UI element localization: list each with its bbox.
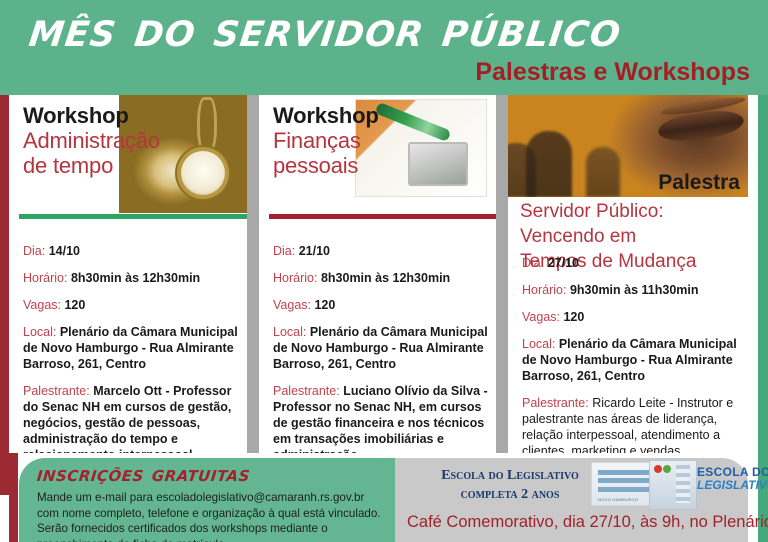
poster: Mês do Servidor Público Palestras e Work… <box>0 0 768 542</box>
card-3-horario-row: Horário: 9h30min às 11h30min <box>522 282 740 298</box>
card-1-title: Administração de tempo <box>23 128 160 178</box>
card-1-vagas-row: Vagas: 120 <box>23 297 239 313</box>
card-1-dia-row: Dia: 14/10 <box>23 243 239 259</box>
cafe-announcement: Café Comemorativo, dia 27/10, às 9h, no … <box>407 512 740 532</box>
card-2-horario-row: Horário: 8h30min às 12h30min <box>273 270 488 286</box>
anniversary-panel: Escola do Legislativo completa 2 anos NO… <box>395 458 748 542</box>
card-3-local-value: Plenário da Câmara Municipal de Novo Ham… <box>522 337 737 383</box>
local-label: Local: <box>273 325 306 339</box>
column-separator-2 <box>496 95 508 453</box>
logo-wordmark-line2: LEGISLATIVO <box>697 479 768 492</box>
card-2-dia-value: 21/10 <box>299 244 330 258</box>
anniversary-title: Escola do Legislativo completa 2 anos <box>405 466 615 504</box>
dia-label: Dia: <box>273 244 295 258</box>
card-3-kicker: Palestra <box>658 171 740 195</box>
page-title: Mês do Servidor Público <box>26 0 625 60</box>
dia-label: Dia: <box>23 244 45 258</box>
escola-do-legislativo-logo: NOVO HAMBURGO ESCOLA DO LEGISLATIVO <box>591 460 741 508</box>
card-1-kicker: Workshop <box>23 103 129 128</box>
logo-caption: NOVO HAMBURGO <box>598 497 638 502</box>
logo-line-3 <box>598 487 650 492</box>
card-3-palestrante-row: Palestrante: Ricardo Leite - Instrutor e… <box>522 395 740 453</box>
logo-line-1 <box>598 470 650 475</box>
card-2-vagas-row: Vagas: 120 <box>273 297 488 313</box>
local-label: Local: <box>23 325 56 339</box>
card-1-details: Dia: 14/10 Horário: 8h30min às 12h30min … <box>23 243 239 453</box>
card-2-local-row: Local: Plenário da Câmara Municipal de N… <box>273 324 488 372</box>
card-3-vagas-row: Vagas: 120 <box>522 309 740 325</box>
card-3-horario-value: 9h30min às 11h30min <box>570 283 699 297</box>
card-3-dia-value: 27/10 <box>548 256 579 270</box>
card-1-vagas-value: 120 <box>64 298 85 312</box>
logo-wordmark-line1: ESCOLA DO <box>697 465 768 479</box>
logo-wordmark: ESCOLA DO LEGISLATIVO <box>697 466 768 492</box>
column-separator-1 <box>247 95 259 453</box>
palestrante-label: Palestrante: <box>522 396 589 410</box>
footer-left-edge-strip <box>9 453 18 542</box>
left-edge-strip <box>0 95 9 495</box>
event-card-2[interactable]: Workshop Finanças pessoais Dia: 21/10 Ho… <box>259 95 496 453</box>
eye-crowd-photo: Palestra <box>508 95 748 197</box>
card-2-palestrante-row: Palestrante: Luciano Olívio da Silva - P… <box>273 383 488 453</box>
vagas-label: Vagas: <box>522 310 560 324</box>
card-2-title: Finanças pessoais <box>273 128 361 178</box>
card-3-details: Dia: 27/10 Horário: 9h30min às 11h30min … <box>522 255 740 453</box>
logo-line-2 <box>598 478 650 483</box>
header-subtitle: Palestras e Workshops <box>475 58 750 86</box>
horario-label: Horário: <box>23 271 67 285</box>
card-2-local-value: Plenário da Câmara Municipal de Novo Ham… <box>273 325 488 371</box>
card-2-dia-row: Dia: 21/10 <box>273 243 488 259</box>
registration-panel: Inscrições gratuitas Mande um e-mail par… <box>19 458 395 542</box>
card-2-media: Workshop Finanças pessoais <box>259 95 496 213</box>
card-3-vagas-value: 120 <box>563 310 584 324</box>
registration-title: Inscrições gratuitas <box>36 462 252 488</box>
event-columns: Workshop Administração de tempo Dia: 14/… <box>9 95 758 453</box>
registration-body: Mande um e-mail para escoladolegislativo… <box>37 490 387 542</box>
card-3-dia-row: Dia: 27/10 <box>522 255 740 271</box>
poster-header: Mês do Servidor Público Palestras e Work… <box>0 0 768 95</box>
card-2-kicker: Workshop <box>273 103 379 128</box>
card-1-rule <box>19 214 247 219</box>
card-1-local-row: Local: Plenário da Câmara Municipal de N… <box>23 324 239 372</box>
card-1-horario-row: Horário: 8h30min às 12h30min <box>23 270 239 286</box>
card-1-media: Workshop Administração de tempo <box>9 95 247 213</box>
palestrante-label: Palestrante: <box>23 384 90 398</box>
logo-building-icon <box>649 460 697 510</box>
card-2-details: Dia: 21/10 Horário: 8h30min às 12h30min … <box>273 243 488 453</box>
card-1-dia-value: 14/10 <box>49 244 80 258</box>
card-3-local-row: Local: Plenário da Câmara Municipal de N… <box>522 336 740 384</box>
crowd-figure-right <box>586 147 620 197</box>
card-1-palestrante-row: Palestrante: Marcelo Ott - Professor do … <box>23 383 239 453</box>
card-2-rule <box>269 214 496 219</box>
card-2-vagas-value: 120 <box>314 298 335 312</box>
crowd-figure-center <box>526 131 572 197</box>
card-2-horario-value: 8h30min às 12h30min <box>321 271 450 285</box>
local-label: Local: <box>522 337 555 351</box>
card-1-local-value: Plenário da Câmara Municipal de Novo Ham… <box>23 325 238 371</box>
vagas-label: Vagas: <box>23 298 61 312</box>
event-card-1[interactable]: Workshop Administração de tempo Dia: 14/… <box>9 95 247 453</box>
vagas-label: Vagas: <box>273 298 311 312</box>
dia-label: Dia: <box>522 256 544 270</box>
event-card-3[interactable]: Palestra Servidor Público: Vencendo em T… <box>508 95 748 453</box>
poster-footer: Inscrições gratuitas Mande um e-mail par… <box>9 453 758 542</box>
card-1-horario-value: 8h30min às 12h30min <box>71 271 200 285</box>
horario-label: Horário: <box>522 283 566 297</box>
horario-label: Horário: <box>273 271 317 285</box>
palestrante-label: Palestrante: <box>273 384 340 398</box>
